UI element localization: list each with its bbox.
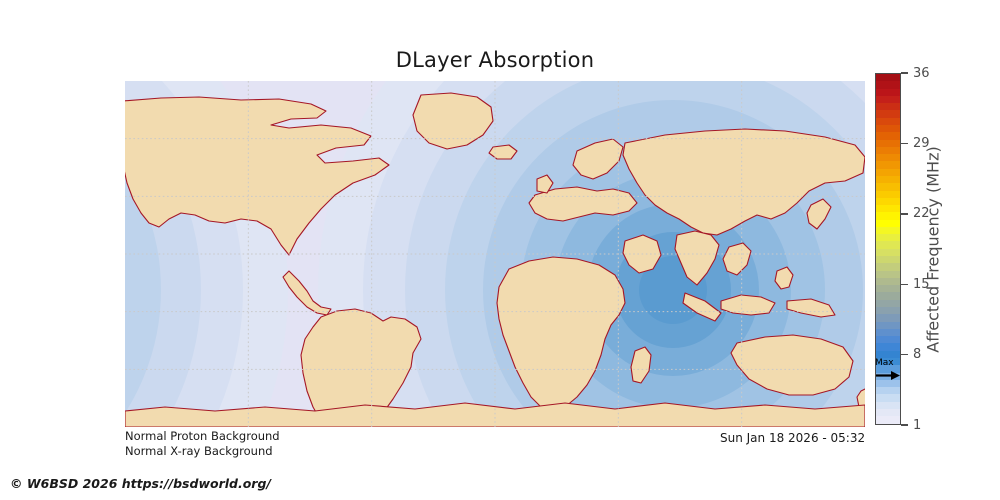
colorbar-band xyxy=(876,285,900,292)
colorbar-band xyxy=(876,263,900,270)
colorbar-band xyxy=(876,292,900,299)
colorbar-band xyxy=(876,256,900,263)
colorbar-band xyxy=(876,343,900,350)
colorbar-gradient xyxy=(875,73,901,425)
colorbar-band xyxy=(876,212,900,219)
colorbar-band xyxy=(876,132,900,139)
colorbar-band xyxy=(876,140,900,147)
colorbar-band xyxy=(876,416,900,423)
colorbar-band xyxy=(876,198,900,205)
colorbar-band xyxy=(876,234,900,241)
colorbar-band xyxy=(876,394,900,401)
colorbar-band xyxy=(876,351,900,358)
status-notes: Normal Proton Background Normal X-ray Ba… xyxy=(125,429,280,458)
colorbar-tick-mark xyxy=(901,424,908,425)
colorbar-tick-mark xyxy=(901,213,908,214)
note-xray-background: Normal X-ray Background xyxy=(125,444,280,459)
colorbar-band xyxy=(876,147,900,154)
colorbar-band xyxy=(876,154,900,161)
map-panel[interactable] xyxy=(125,81,865,427)
colorbar-tick-mark xyxy=(901,354,908,355)
timestamp: Sun Jan 18 2026 - 05:32 xyxy=(720,431,865,445)
colorbar[interactable] xyxy=(875,73,901,425)
colorbar-band xyxy=(876,89,900,96)
colorbar-band xyxy=(876,81,900,88)
colorbar-band xyxy=(876,227,900,234)
colorbar-tick-mark xyxy=(901,143,908,144)
colorbar-band xyxy=(876,409,900,416)
page-title: DLayer Absorption xyxy=(0,48,990,72)
credit-line: © W6BSD 2026 https://bsdworld.org/ xyxy=(10,476,271,491)
note-proton-background: Normal Proton Background xyxy=(125,429,280,444)
colorbar-band xyxy=(876,96,900,103)
colorbar-tick-mark xyxy=(901,284,908,285)
colorbar-band xyxy=(876,110,900,117)
colorbar-band xyxy=(876,358,900,365)
colorbar-band xyxy=(876,365,900,372)
colorbar-band xyxy=(876,103,900,110)
colorbar-band xyxy=(876,249,900,256)
colorbar-band xyxy=(876,183,900,190)
colorbar-band xyxy=(876,278,900,285)
colorbar-band xyxy=(876,241,900,248)
colorbar-band xyxy=(876,118,900,125)
colorbar-axis-label-text: Affected Frequency (MHz) xyxy=(924,146,943,352)
colorbar-band xyxy=(876,336,900,343)
colorbar-band xyxy=(876,314,900,321)
colorbar-band xyxy=(876,191,900,198)
colorbar-band xyxy=(876,387,900,394)
colorbar-band xyxy=(876,176,900,183)
colorbar-band xyxy=(876,125,900,132)
colorbar-band xyxy=(876,329,900,336)
colorbar-band xyxy=(876,161,900,168)
colorbar-band xyxy=(876,74,900,81)
colorbar-band xyxy=(876,205,900,212)
world-map[interactable] xyxy=(125,81,865,427)
colorbar-band xyxy=(876,169,900,176)
colorbar-band xyxy=(876,322,900,329)
colorbar-band xyxy=(876,307,900,314)
colorbar-band xyxy=(876,220,900,227)
colorbar-tick-mark xyxy=(901,72,908,73)
colorbar-band xyxy=(876,300,900,307)
colorbar-band xyxy=(876,380,900,387)
colorbar-band xyxy=(876,402,900,409)
colorbar-band xyxy=(876,271,900,278)
colorbar-axis-label: Affected Frequency (MHz) xyxy=(921,73,945,425)
colorbar-band xyxy=(876,373,900,380)
